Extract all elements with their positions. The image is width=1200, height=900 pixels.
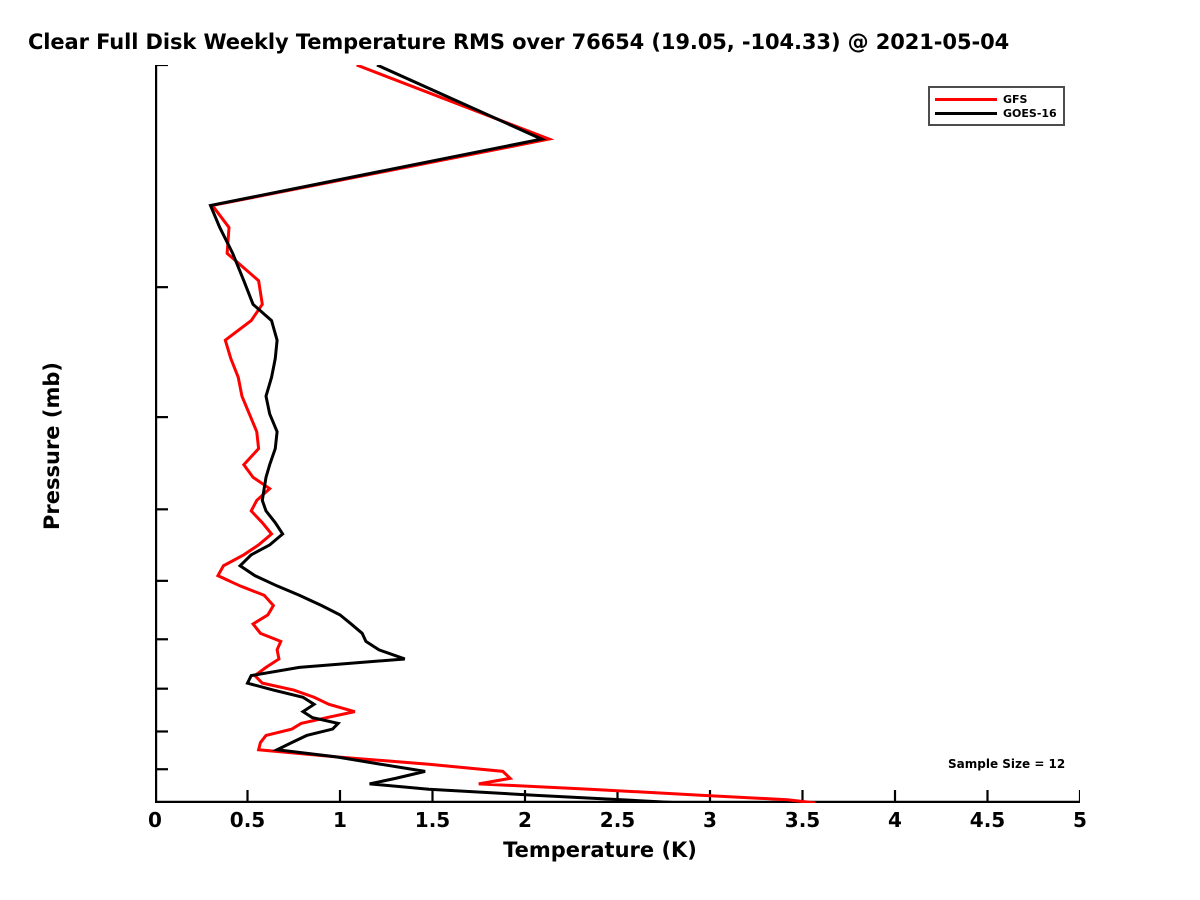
- x-tick-label: 3: [703, 808, 717, 832]
- x-tick-label: 2: [518, 808, 532, 832]
- x-tick-label: 4: [888, 808, 902, 832]
- x-tick-label: 2.5: [600, 808, 635, 832]
- legend-item[interactable]: GFS: [935, 92, 1057, 106]
- legend-color-swatch: [935, 98, 997, 101]
- x-tick-label: 4.5: [970, 808, 1005, 832]
- series-line-goes-16: [211, 65, 683, 803]
- legend-label: GFS: [1003, 94, 1027, 105]
- legend[interactable]: GFSGOES-16: [928, 86, 1065, 126]
- x-tick-label: 1.5: [415, 808, 450, 832]
- plot-area: [155, 65, 1080, 803]
- x-tick-label: 0.5: [230, 808, 265, 832]
- x-tick-label: 0: [148, 808, 162, 832]
- x-tick-label: 3.5: [785, 808, 820, 832]
- plot-canvas: [155, 65, 1080, 803]
- legend-label: GOES-16: [1003, 108, 1057, 119]
- legend-item[interactable]: GOES-16: [935, 106, 1057, 120]
- chart-figure: Clear Full Disk Weekly Temperature RMS o…: [0, 0, 1200, 900]
- x-axis-tick-labels: 00.511.522.533.544.55: [0, 808, 1200, 838]
- x-tick-label: 5: [1073, 808, 1087, 832]
- axes-group: [155, 65, 1080, 803]
- series-line-gfs: [212, 65, 815, 803]
- legend-color-swatch: [935, 112, 997, 115]
- data-series-group: [211, 65, 816, 803]
- sample-size-annotation: Sample Size = 12: [948, 757, 1065, 771]
- y-axis-tick-labels: 102200300400500600700800900103: [0, 0, 148, 900]
- y-axis-label: Pressure (mb): [40, 336, 64, 556]
- page-title: Clear Full Disk Weekly Temperature RMS o…: [28, 30, 1009, 54]
- x-axis-label: Temperature (K): [0, 838, 1200, 862]
- x-tick-label: 1: [333, 808, 347, 832]
